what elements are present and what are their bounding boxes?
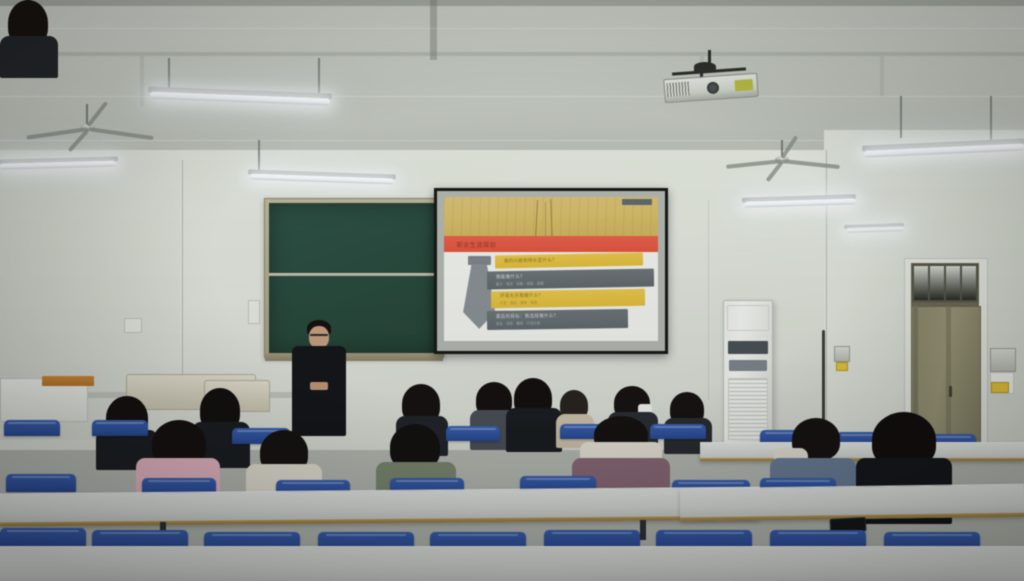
slide-photo-furrow <box>545 202 546 241</box>
transom-pane <box>946 266 960 300</box>
ceiling-seam <box>0 28 1024 29</box>
seat[interactable] <box>6 474 76 492</box>
desk-row <box>0 546 1024 581</box>
slide-row-sub: 定位 · 目标 · 路径 · 行动计划 <box>496 319 628 326</box>
lectern-top <box>42 376 94 386</box>
light-suspension-rod <box>990 96 992 142</box>
ceiling-beam <box>0 0 1024 6</box>
seat-highlight <box>7 530 79 532</box>
student-jacket <box>0 36 58 78</box>
seat-highlight <box>148 480 210 482</box>
slide-row: 最后的目标：我选择做什么？ 定位 · 目标 · 路径 · 行动计划 <box>487 309 629 330</box>
student-jacket <box>506 408 562 452</box>
presenter-head <box>309 326 329 348</box>
door-transom-window <box>911 263 979 303</box>
light-suspension-rod <box>900 96 902 138</box>
door-handle[interactable] <box>949 386 952 397</box>
transom-pane <box>914 266 928 300</box>
seat-highlight <box>326 534 407 536</box>
wall-seam <box>826 150 827 420</box>
ac-louver <box>729 360 767 370</box>
presenter-torso <box>292 346 346 436</box>
wall-plate <box>124 318 142 333</box>
transom-pane <box>930 266 944 300</box>
desk-row <box>0 487 760 527</box>
ceiling-beam <box>880 56 884 96</box>
seat[interactable] <box>0 528 86 548</box>
seat-highlight <box>8 422 55 424</box>
wall-switch-box[interactable] <box>834 346 850 362</box>
slide-photo-furrow <box>535 200 538 241</box>
ac-display[interactable] <box>728 341 768 354</box>
presentation-slide: · · · · · · 职业生涯规划 我的兴趋和特长是什么？ 我 <box>444 197 658 341</box>
ceiling-beam <box>0 52 1024 56</box>
desk-leg <box>640 520 646 540</box>
seat-highlight <box>552 532 633 534</box>
slide-photo-caption: · · · · · · <box>633 231 648 235</box>
seat[interactable] <box>4 420 60 436</box>
wall-warning-label <box>836 362 848 371</box>
slide-row-sub: 行业 · 岗位 · 竞争 · 机会 <box>500 299 645 307</box>
slide-title: 职业生涯规划 <box>457 240 497 249</box>
seat-highlight <box>100 532 181 534</box>
air-conditioner <box>723 300 773 450</box>
slide-title-banner: 职业生涯规划 <box>444 236 658 252</box>
seat-highlight <box>892 534 973 536</box>
slide-logo <box>622 199 652 205</box>
necktie-knot <box>468 256 491 266</box>
seat-highlight <box>438 534 519 536</box>
seat-highlight <box>778 532 859 534</box>
slide-photo-furrow <box>550 199 552 240</box>
transom-pane <box>962 266 976 300</box>
seat-highlight <box>766 480 830 482</box>
screen-surface: · · · · · · 职业生涯规划 我的兴趋和特长是什么？ 我 <box>437 191 665 351</box>
student-row-back <box>506 378 562 448</box>
slide-row: 我的兴趋和特长是什么？ <box>495 252 643 268</box>
seat-highlight <box>678 482 744 484</box>
slide-row: 我能做什么？ 能力 · 知识 · 技能 · 经验 · 资源 <box>487 268 654 289</box>
seat-highlight <box>212 534 293 536</box>
seat-highlight <box>12 476 71 478</box>
projection-screen: · · · · · · 职业生涯规划 我的兴趋和特长是什么？ 我 <box>434 188 668 354</box>
chalkboard-panel-divider <box>269 273 439 276</box>
presenter-hands <box>310 382 328 390</box>
seat-highlight <box>664 532 745 534</box>
ac-top-panel <box>727 305 769 331</box>
ceiling-beam <box>430 0 437 60</box>
ceiling-beam <box>140 56 144 106</box>
slide-body: 我的兴趋和特长是什么？ 我能做什么？ 能力 · 知识 · 技能 · 经验 · 资… <box>444 252 658 341</box>
projector-mount-bracket <box>694 62 716 71</box>
seat-highlight <box>450 428 495 430</box>
wall-electrical-box[interactable] <box>990 348 1016 372</box>
desk-edge <box>0 516 760 527</box>
seat-highlight <box>396 480 458 482</box>
presenter-glasses <box>310 334 328 336</box>
projector-lens <box>707 81 720 94</box>
presenter <box>288 320 350 436</box>
seat-highlight <box>282 482 344 484</box>
light-suspension-rod <box>318 58 320 96</box>
slide-row-head: 我的兴趋和特长是什么？ <box>504 256 643 265</box>
desk-row <box>680 484 1024 522</box>
slide-header-photo: · · · · · · <box>444 197 658 240</box>
classroom-photo: · · · · · · 职业生涯规划 我的兴趋和特长是什么？ 我 <box>0 0 1024 581</box>
projector-label <box>735 79 754 91</box>
projector-vent <box>667 82 690 98</box>
wall-seam <box>182 160 183 410</box>
wall-warning-sign <box>991 382 1009 393</box>
seat-highlight <box>526 478 590 480</box>
slide-row: 环境允许我做什么？ 行业 · 岗位 · 竞争 · 机会 <box>491 289 646 309</box>
wall-seam <box>708 200 709 400</box>
wall-plate <box>248 300 260 324</box>
